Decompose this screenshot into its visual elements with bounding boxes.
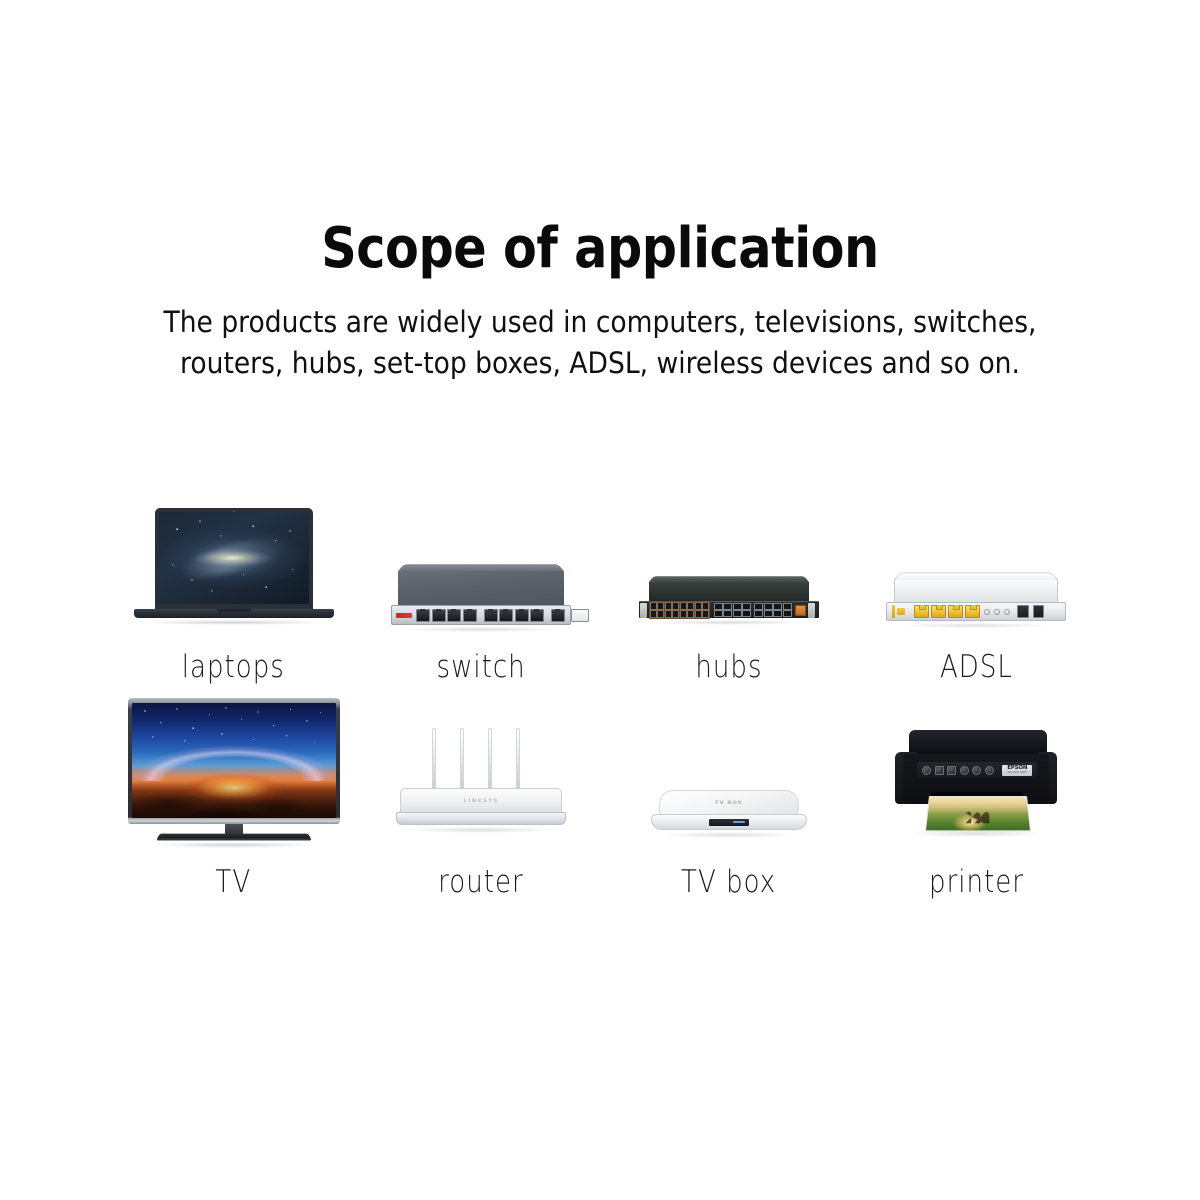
router-antenna <box>432 728 436 790</box>
device-cell-hubs[interactable]: hubs <box>605 490 853 685</box>
device-cell-adsl[interactable]: ADSL <box>853 490 1101 685</box>
page-subtitle: The products are widely used in computer… <box>123 302 1077 386</box>
tvbox-front-panel <box>651 814 807 830</box>
device-cell-tv[interactable]: TV <box>110 685 358 900</box>
tv-shadow <box>154 842 314 848</box>
tvbox-shadow <box>663 832 795 838</box>
sfp-port <box>714 603 723 610</box>
router-antenna <box>460 728 464 790</box>
device-cell-router[interactable]: LINKSYS router <box>358 685 606 900</box>
printer-scanner-lid <box>909 730 1047 756</box>
rj45-port <box>551 609 565 622</box>
laptop-notch <box>217 609 251 612</box>
hub-shadow <box>653 620 805 625</box>
hub-sfp-group <box>754 603 792 618</box>
laptop-lid <box>155 508 313 611</box>
rack-ear-left <box>640 603 647 618</box>
panel-button-icon <box>947 766 956 775</box>
device-label-adsl: ADSL <box>940 649 1013 685</box>
adsl-front-panel <box>886 602 1066 621</box>
television-icon <box>128 698 340 848</box>
device-label-tv: TV <box>216 864 252 900</box>
sfp-port <box>783 603 792 610</box>
hub-top-cover <box>649 581 809 603</box>
power-port <box>1033 605 1044 618</box>
lan-port <box>914 605 929 618</box>
switch-port-row <box>416 609 589 622</box>
rj45-port <box>499 609 513 622</box>
adsl-antenna-icon <box>892 605 895 618</box>
printed-photo <box>925 796 1031 831</box>
lan-port <box>948 605 963 618</box>
laptop-screen <box>159 512 309 604</box>
tvbox-brand-logo: TV BOX <box>715 800 743 805</box>
device-cell-laptops[interactable]: laptops <box>110 490 358 685</box>
sfp-port <box>773 610 782 617</box>
rj45-port <box>680 610 687 618</box>
router-shadow <box>406 827 556 833</box>
milky-way-arch <box>132 703 336 781</box>
rj45-port <box>447 609 461 622</box>
sfp-port <box>754 603 763 610</box>
printer-icon: EPSON XP-225 WiFi <box>891 730 1061 848</box>
lan-port <box>965 605 980 618</box>
router-body: LINKSYS <box>400 788 562 814</box>
adsl-shadow <box>898 623 1054 628</box>
rj45-port <box>695 602 702 610</box>
sfp-port <box>733 603 742 610</box>
rj45-port <box>484 609 498 622</box>
device-label-printer: printer <box>929 864 1024 900</box>
device-label-hubs: hubs <box>695 649 762 685</box>
panel-button-icon <box>985 766 994 775</box>
switch-front-panel <box>391 605 571 625</box>
rj45-port <box>687 610 694 618</box>
sfp-port <box>714 610 723 617</box>
scope-of-application-page: Scope of application The products are wi… <box>0 0 1200 1200</box>
rj45-port <box>680 602 687 610</box>
switch-shadow <box>403 627 559 632</box>
rj45-port <box>665 602 672 610</box>
sfp-port <box>723 610 732 617</box>
rj45-port <box>416 609 430 622</box>
device-grid: laptops <box>110 490 1100 900</box>
sfp-port <box>773 603 782 610</box>
network-switch-icon <box>391 559 571 633</box>
rj45-port <box>702 610 709 618</box>
hub-rj45-block <box>649 601 711 619</box>
laptop-illustration <box>110 490 358 633</box>
rj45-port <box>657 610 664 618</box>
rack-ear-right <box>808 603 815 618</box>
switch-top-cover <box>398 569 564 607</box>
tv-bezel <box>128 698 340 824</box>
hub-sfp-group <box>714 603 752 618</box>
device-cell-printer[interactable]: EPSON XP-225 WiFi printer <box>853 685 1101 900</box>
router-antenna <box>516 728 520 790</box>
sfp-port <box>742 603 751 610</box>
panel-button-icon <box>960 766 969 775</box>
rj45-port <box>665 610 672 618</box>
tv-screen <box>132 703 336 818</box>
rj45-port <box>650 610 657 618</box>
rj45-port <box>672 602 679 610</box>
switch-brand-mark <box>396 613 412 618</box>
hub-front-panel <box>639 601 819 618</box>
adsl-illustration <box>853 490 1101 633</box>
sfp-port <box>742 610 751 617</box>
device-cell-tvbox[interactable]: TV BOX TV box <box>605 685 853 900</box>
page-title: Scope of application <box>72 218 1128 280</box>
sfp-port <box>723 603 732 610</box>
page-header: Scope of application The products are wi… <box>0 218 1200 385</box>
device-label-router: router <box>438 864 524 900</box>
adsl-modem-icon <box>886 571 1066 633</box>
adsl-button <box>994 609 1000 615</box>
sfp-port <box>571 609 589 622</box>
tvbox-top-cover: TV BOX <box>659 790 799 816</box>
sfp-port <box>764 603 773 610</box>
set-top-box-icon: TV BOX <box>649 786 809 848</box>
printer-illustration: EPSON XP-225 WiFi <box>853 685 1101 848</box>
router-front-edge <box>396 812 566 825</box>
router-antenna <box>488 728 492 790</box>
rj45-port <box>657 602 664 610</box>
device-label-laptops: laptops <box>182 649 285 685</box>
adsl-button <box>984 609 990 615</box>
star-field <box>132 703 336 777</box>
rj45-port <box>432 609 446 622</box>
device-label-tvbox: TV box <box>681 864 776 900</box>
panel-button-icon <box>972 766 981 775</box>
hub-illustration <box>605 490 853 633</box>
panel-button-icon <box>935 766 944 775</box>
tv-stand-base <box>156 834 312 841</box>
rj45-port <box>463 609 477 622</box>
tv-illustration <box>110 685 358 848</box>
rj45-port <box>530 609 544 622</box>
laptop-shadow <box>142 620 326 625</box>
rj45-port <box>672 610 679 618</box>
router-brand-logo: LINKSYS <box>464 799 499 804</box>
printer-model-name: XP-225 WiFi <box>1007 771 1027 774</box>
photo-figures <box>964 810 993 823</box>
router-illustration: LINKSYS <box>358 685 606 848</box>
device-cell-switch[interactable]: switch <box>358 490 606 685</box>
power-button-icon <box>922 766 931 775</box>
adsl-label-tag <box>897 608 905 615</box>
adsl-top-cover <box>894 577 1058 603</box>
tvbox-display <box>709 819 749 826</box>
desert-foreground <box>132 779 336 818</box>
printer-shadow <box>907 830 1045 837</box>
tvbox-illustration: TV BOX <box>605 685 853 848</box>
rj45-port <box>702 602 709 610</box>
rack-hub-icon <box>639 573 819 633</box>
laptop-icon <box>134 508 334 633</box>
printer-control-panel: EPSON XP-225 WiFi <box>917 762 1037 778</box>
rj45-port <box>695 610 702 618</box>
usb-port <box>1017 605 1029 618</box>
rj45-port <box>687 602 694 610</box>
sfp-port <box>733 610 742 617</box>
wifi-router-icon: LINKSYS <box>396 728 566 848</box>
console-port-icon <box>795 605 806 616</box>
rj45-port <box>650 602 657 610</box>
switch-illustration <box>358 490 606 633</box>
sfp-port <box>764 610 773 617</box>
lan-port <box>931 605 946 618</box>
printer-brand-badge: EPSON XP-225 WiFi <box>1002 765 1032 776</box>
device-label-switch: switch <box>437 649 526 685</box>
adsl-button <box>1004 609 1010 615</box>
sfp-port <box>754 610 763 617</box>
sfp-port <box>783 610 792 617</box>
rj45-port <box>515 609 529 622</box>
